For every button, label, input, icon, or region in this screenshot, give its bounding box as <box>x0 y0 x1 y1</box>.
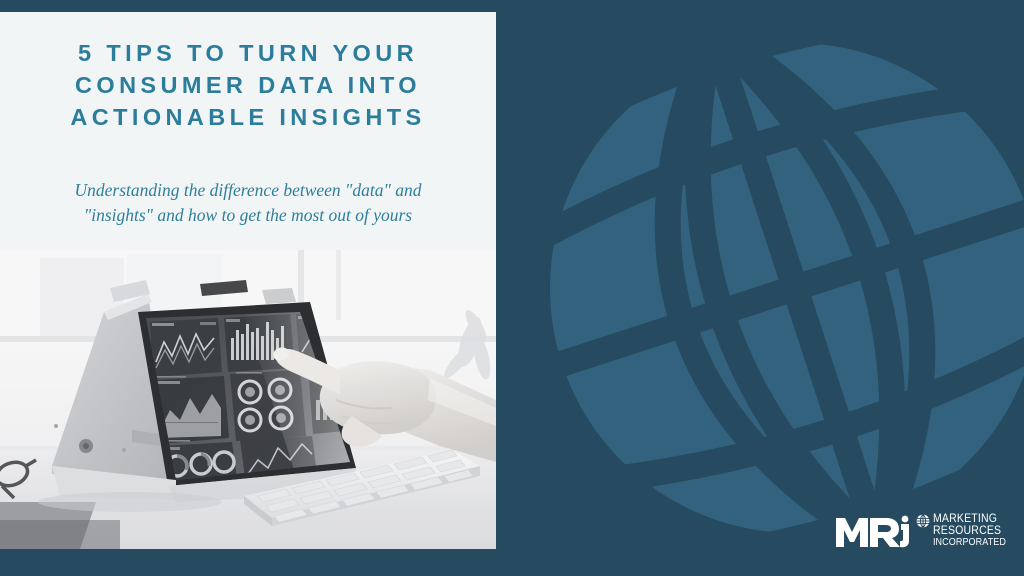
page-title: 5 TIPS TO TURN YOUR CONSUMER DATA INTO A… <box>24 38 472 134</box>
mri-monogram-icon <box>835 514 911 548</box>
logo-line-resources: RESOURCES <box>933 525 1006 537</box>
mri-logo-wordmark: MARKETING RESOURCES INCORPORATED <box>933 513 1006 548</box>
mri-logo-text-block: MARKETING RESOURCES INCORPORATED <box>916 513 1006 549</box>
content-card: 5 TIPS TO TURN YOUR CONSUMER DATA INTO A… <box>0 12 496 549</box>
mri-logo: MARKETING RESOURCES INCORPORATED <box>835 513 1006 549</box>
card-text-block: 5 TIPS TO TURN YOUR CONSUMER DATA INTO A… <box>0 12 496 229</box>
globe-icon <box>916 514 930 528</box>
page-subtitle: Understanding the difference between "da… <box>33 178 463 229</box>
hero-photo <box>0 250 496 549</box>
slide-canvas: 5 TIPS TO TURN YOUR CONSUMER DATA INTO A… <box>0 0 1024 576</box>
logo-line-marketing: MARKETING <box>933 513 1006 525</box>
logo-line-incorporated: INCORPORATED <box>933 537 1006 547</box>
